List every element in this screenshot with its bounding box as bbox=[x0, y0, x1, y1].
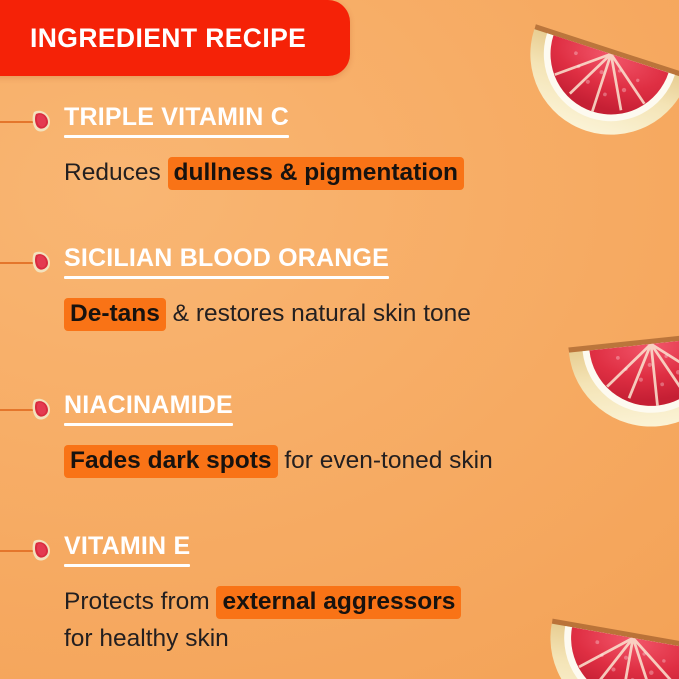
citrus-wedge-icon bbox=[31, 106, 53, 134]
heading-underline bbox=[64, 564, 190, 567]
ingredient-description: Protects from external aggressors bbox=[64, 584, 609, 620]
ingredient-heading-wrap: NIACINAMIDE bbox=[64, 392, 233, 426]
ingredient-item-sicilian-blood-orange: SICILIAN BLOOD ORANGE De-tans & restores… bbox=[0, 245, 640, 332]
citrus-wedge-icon bbox=[31, 394, 53, 422]
description-part-highlight: De-tans bbox=[64, 298, 166, 331]
ingredient-description: Reduces dullness & pigmentation bbox=[64, 155, 609, 191]
ingredient-item-vitamin-e: VITAMIN E Protects from external aggress… bbox=[0, 533, 640, 655]
heading-underline bbox=[64, 276, 389, 279]
description-part-highlight: Fades dark spots bbox=[64, 445, 278, 478]
ingredient-name: VITAMIN E bbox=[64, 533, 190, 560]
ingredient-heading-row: SICILIAN BLOOD ORANGE bbox=[0, 245, 640, 285]
description-part-plain: Protects from bbox=[64, 588, 216, 615]
ingredient-description: Fades dark spots for even-toned skin bbox=[64, 443, 609, 479]
heading-underline bbox=[64, 135, 289, 138]
ingredient-name: NIACINAMIDE bbox=[64, 392, 233, 419]
ingredient-heading-row: NIACINAMIDE bbox=[0, 392, 640, 432]
ingredient-heading-wrap: TRIPLE VITAMIN C bbox=[64, 104, 289, 138]
description-part-highlight: dullness & pigmentation bbox=[168, 157, 465, 190]
citrus-wedge-icon bbox=[31, 247, 53, 275]
leader-line bbox=[0, 121, 34, 123]
ingredient-heading-wrap: SICILIAN BLOOD ORANGE bbox=[64, 245, 389, 279]
ingredient-recipe-banner: INGREDIENT RECIPE bbox=[0, 0, 350, 76]
ingredient-description: De-tans & restores natural skin tone bbox=[64, 296, 609, 332]
citrus-wedge-icon bbox=[31, 535, 53, 563]
leader-line bbox=[0, 550, 34, 552]
page-title: INGREDIENT RECIPE bbox=[30, 25, 306, 52]
ingredient-heading-wrap: VITAMIN E bbox=[64, 533, 190, 567]
ingredient-heading-row: VITAMIN E bbox=[0, 533, 640, 573]
description-part-plain: for even-toned skin bbox=[278, 447, 493, 474]
ingredient-name: SICILIAN BLOOD ORANGE bbox=[64, 245, 389, 272]
ingredient-heading-row: TRIPLE VITAMIN C bbox=[0, 104, 640, 144]
heading-underline bbox=[64, 423, 233, 426]
ingredient-recipe-poster: INGREDIENT RECIPE TRIPLE VITAMIN C Reduc… bbox=[0, 0, 679, 679]
description-part-plain: & restores natural skin tone bbox=[166, 300, 471, 327]
ingredient-item-niacinamide: NIACINAMIDE Fades dark spots for even-to… bbox=[0, 392, 640, 479]
description-part-plain: Reduces bbox=[64, 159, 168, 186]
ingredient-name: TRIPLE VITAMIN C bbox=[64, 104, 289, 131]
ingredient-item-triple-vitamin-c: TRIPLE VITAMIN C Reduces dullness & pigm… bbox=[0, 104, 640, 191]
description-part-highlight: external aggressors bbox=[216, 586, 461, 619]
leader-line bbox=[0, 262, 34, 264]
leader-line bbox=[0, 409, 34, 411]
ingredient-description-line-2: for healthy skin bbox=[64, 622, 640, 655]
